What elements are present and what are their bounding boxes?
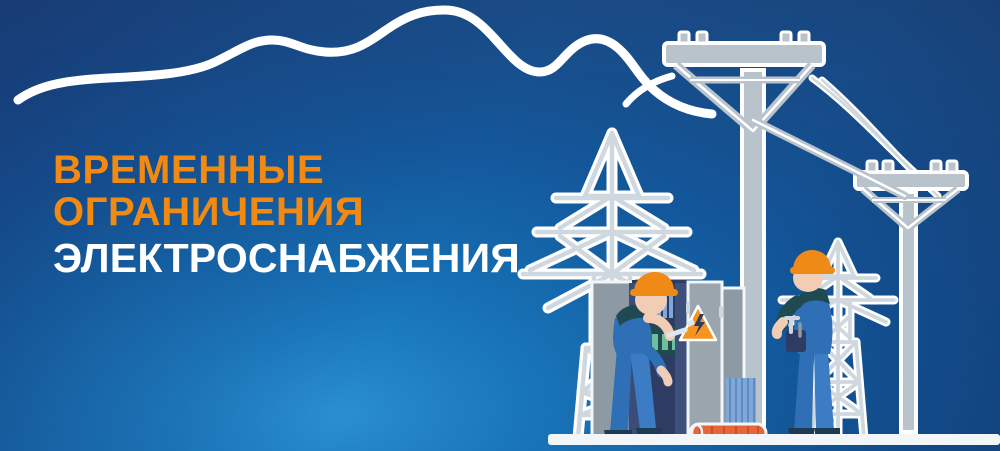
- headline-line-1: ВРЕМЕННЫЕ: [53, 150, 573, 191]
- ground-line: [548, 434, 1000, 445]
- banner: ВРЕМЕННЫЕ ОГРАНИЧЕНИЯ ЭЛЕКТРОСНАБЖЕНИЯ: [0, 0, 1000, 451]
- headline-line-2: ОГРАНИЧЕНИЯ: [53, 192, 573, 233]
- headline-line-3: ЭЛЕКТРОСНАБЖЕНИЯ: [53, 237, 573, 279]
- page-title: ВРЕМЕННЫЕ ОГРАНИЧЕНИЯ ЭЛЕКТРОСНАБЖЕНИЯ: [53, 150, 573, 280]
